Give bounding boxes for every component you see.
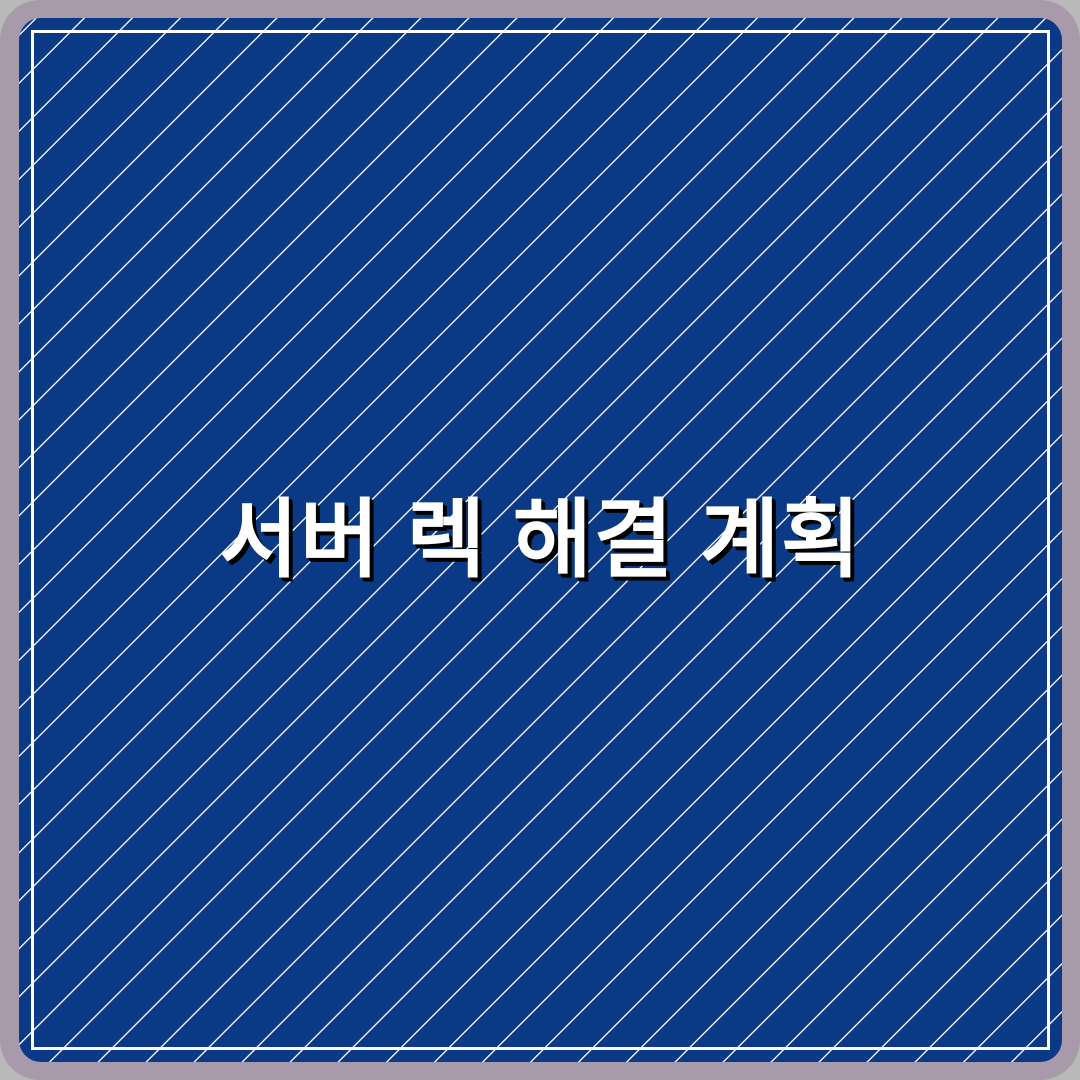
- inset-border-rule: [31, 30, 1050, 1050]
- headline-container: 서버 렉 해결 계획: [19, 18, 1062, 1062]
- blue-panel: 서버 렉 해결 계획: [19, 18, 1062, 1062]
- diagonal-stripe-pattern: [19, 18, 1062, 1062]
- headline-text: 서버 렉 해결 계획: [219, 492, 862, 588]
- poster-canvas: 서버 렉 해결 계획: [0, 0, 1080, 1080]
- outer-frame: 서버 렉 해결 계획: [0, 0, 1080, 1080]
